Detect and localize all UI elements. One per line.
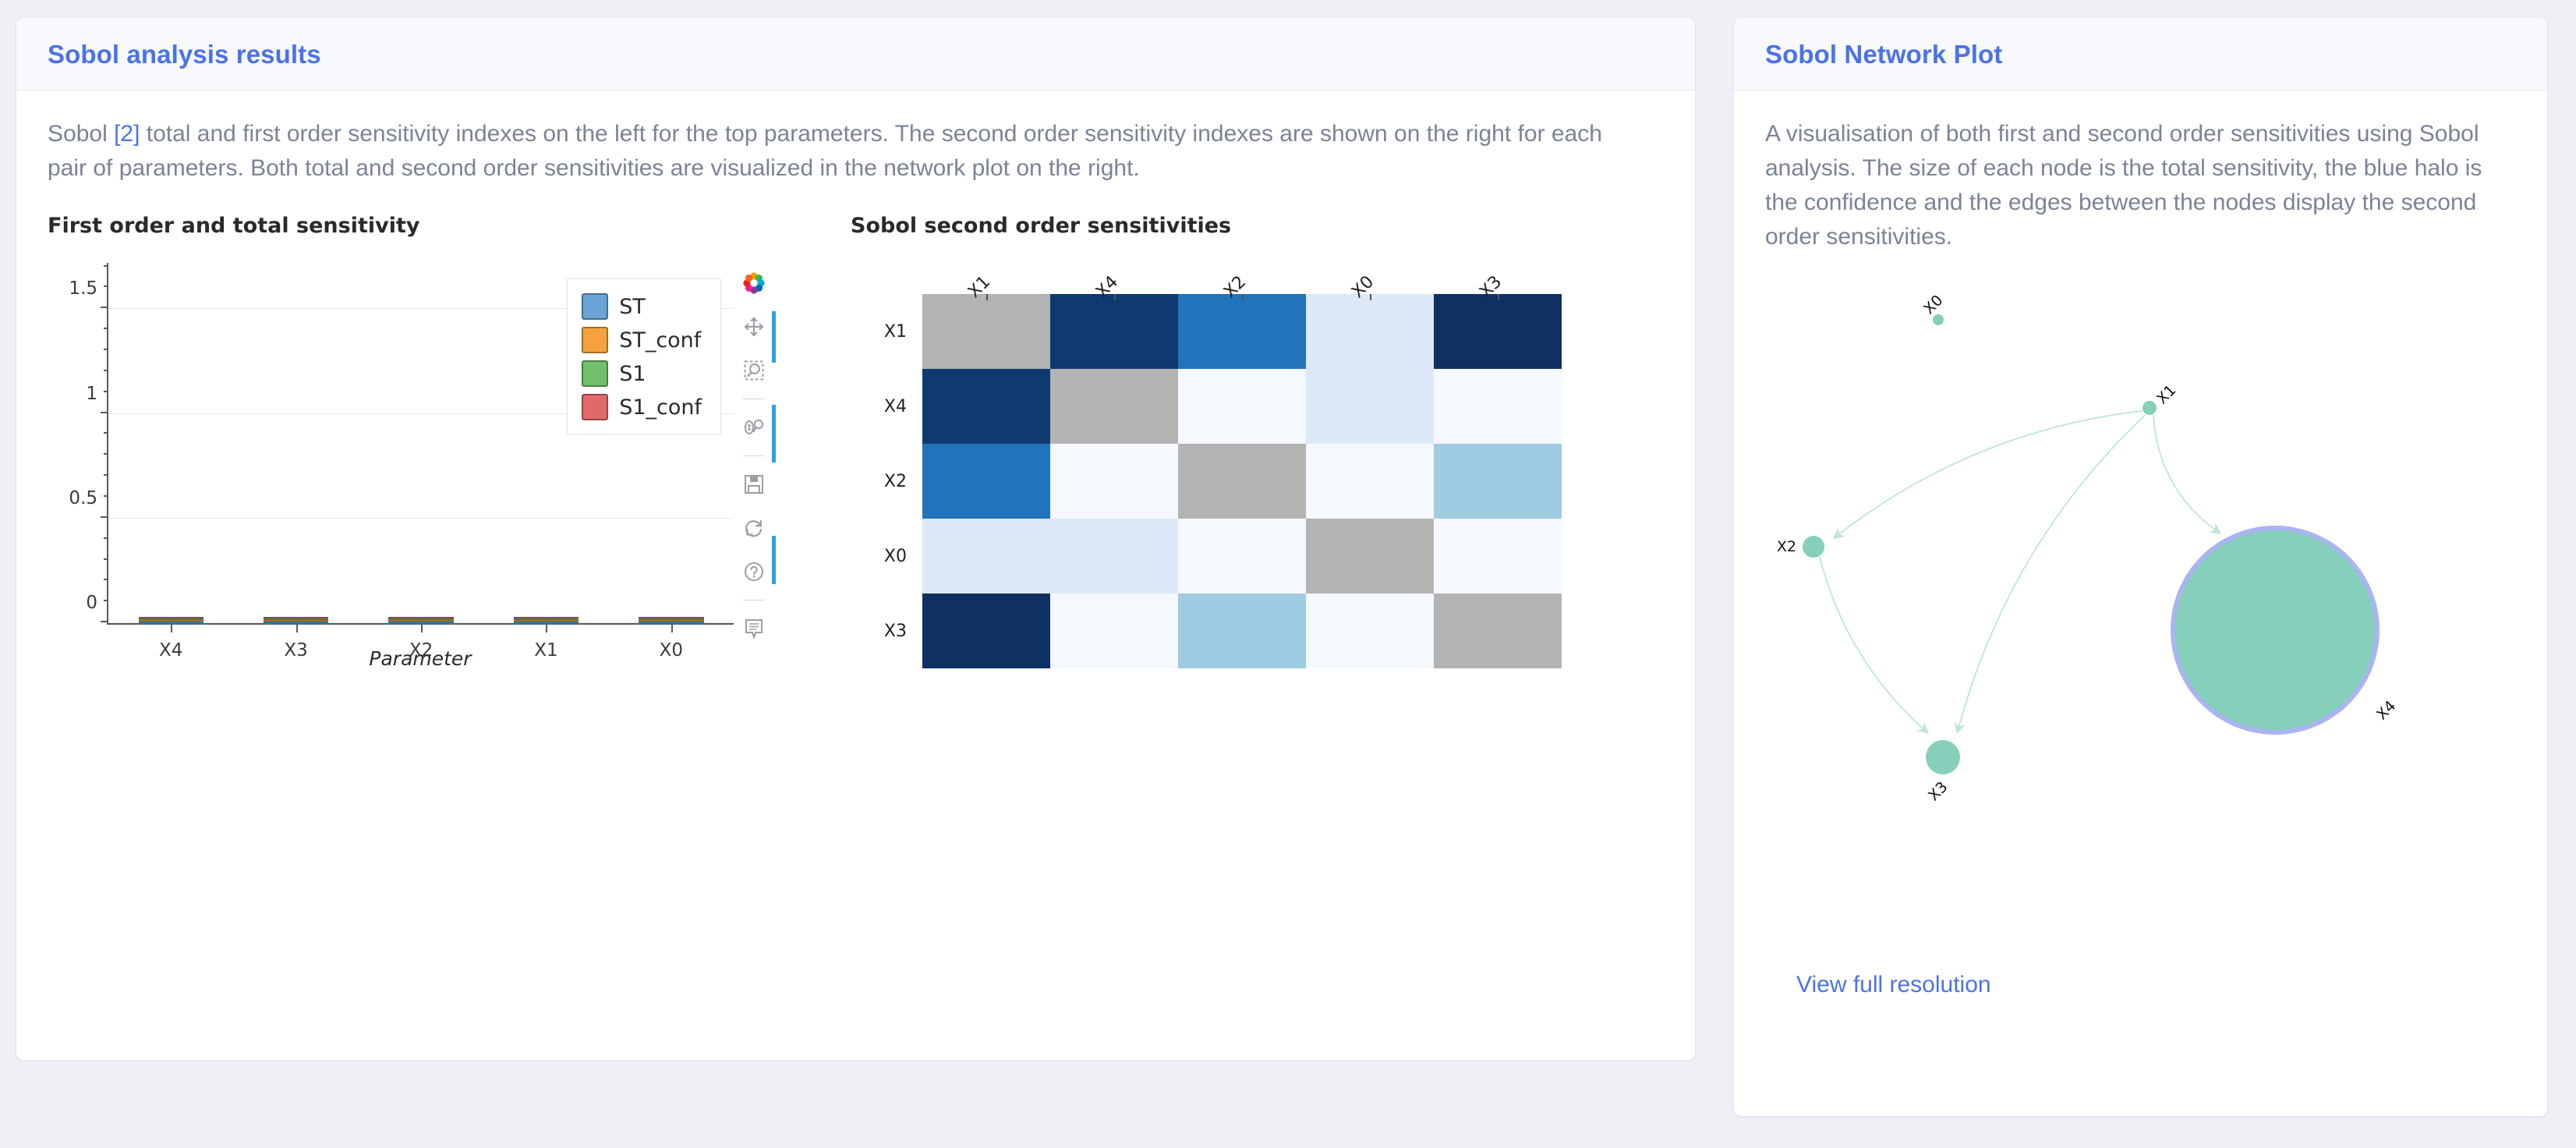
y-axis-tick bbox=[101, 621, 108, 622]
heatmap-cell[interactable] bbox=[1178, 369, 1306, 444]
heatmap-row-labels: X1X4X2X0X3 bbox=[851, 294, 922, 668]
heatmap-cell[interactable] bbox=[1050, 369, 1178, 444]
bar-column[interactable]: X4 bbox=[108, 617, 233, 623]
heatmap-column-labels: X1X4X2X0X3 bbox=[922, 250, 1562, 294]
reset-icon[interactable] bbox=[738, 512, 770, 544]
heatmap-grid[interactable] bbox=[922, 294, 1562, 668]
heatmap-cell[interactable] bbox=[1306, 369, 1434, 444]
heatmap-cell[interactable] bbox=[922, 593, 1050, 668]
page-root: Sobol analysis results Sobol [2] total a… bbox=[0, 0, 2576, 1117]
toolbar-divider bbox=[743, 399, 765, 399]
heatmap-row-label: X4 bbox=[851, 369, 922, 444]
network-node-label: X0 bbox=[1920, 292, 1946, 317]
legend-label: ST bbox=[619, 295, 646, 319]
sobol-network-plot-card: Sobol Network Plot A visualisation of bo… bbox=[1733, 17, 2548, 1117]
network-node-circle[interactable] bbox=[2143, 401, 2157, 415]
heatmap-column-label: X0 bbox=[1306, 250, 1434, 294]
heatmap-cell[interactable] bbox=[1178, 294, 1306, 369]
network-nodes[interactable]: X0X1X2X3X4 bbox=[1777, 292, 2399, 804]
legend-label: S1 bbox=[619, 362, 646, 386]
y-axis-tick bbox=[101, 306, 108, 308]
x-axis-tick bbox=[671, 623, 673, 632]
bar-plot-area[interactable]: 00.511.5X4X3X2X1X0 Parameter STST_confS1… bbox=[48, 250, 765, 687]
network-edges bbox=[1820, 411, 2220, 734]
heatmap-cell[interactable] bbox=[1434, 444, 1562, 519]
heatmap-cell[interactable] bbox=[1306, 294, 1434, 369]
legend-swatch bbox=[582, 394, 608, 420]
network-edge bbox=[1957, 415, 2146, 733]
page-title: Sobol analysis results bbox=[48, 40, 1664, 69]
heatmap-title: Sobol second order sensitivities bbox=[851, 214, 1638, 238]
network-node-label: X3 bbox=[1925, 778, 1951, 804]
heatmap-cell[interactable] bbox=[1306, 444, 1434, 519]
network-node-circle[interactable] bbox=[1926, 740, 1960, 774]
legend-item-st_conf[interactable]: ST_conf bbox=[582, 327, 702, 353]
bar-stack[interactable] bbox=[139, 617, 203, 623]
network-node-circle[interactable] bbox=[1803, 536, 1824, 558]
left-card-header: Sobol analysis results bbox=[16, 18, 1695, 90]
y-axis-tick-label: 1 bbox=[86, 384, 97, 404]
first-order-total-sensitivity-chart: First order and total sensitivity 00.511… bbox=[48, 214, 827, 687]
heatmap-cell[interactable] bbox=[1306, 593, 1434, 668]
network-plot-area[interactable]: X0X1X2X3X4 bbox=[1765, 271, 2516, 958]
heatmap-column-tick bbox=[986, 294, 988, 300]
y-axis-tick bbox=[101, 516, 108, 518]
heatmap-column-tick bbox=[1114, 294, 1116, 300]
heatmap-cell[interactable] bbox=[1178, 444, 1306, 519]
network-edge bbox=[1820, 557, 1928, 734]
toolbar-divider bbox=[743, 600, 765, 601]
heatmap-cell[interactable] bbox=[1178, 519, 1306, 593]
y-axis-tick-label: 0.5 bbox=[69, 488, 97, 508]
heatmap-cell[interactable] bbox=[1050, 593, 1178, 668]
network-node-x4[interactable]: X4 bbox=[2171, 526, 2399, 735]
bar-column[interactable]: X2 bbox=[359, 617, 483, 623]
legend-label: S1_conf bbox=[619, 395, 702, 420]
heatmap-body: X1X4X2X0X3 bbox=[851, 294, 1638, 668]
heatmap-cell[interactable] bbox=[1434, 519, 1562, 593]
legend-label: ST_conf bbox=[619, 328, 701, 353]
help-icon[interactable] bbox=[738, 556, 770, 587]
bar-stack[interactable] bbox=[264, 617, 328, 623]
network-description: A visualisation of both first and second… bbox=[1765, 117, 2482, 254]
pan-icon[interactable] bbox=[738, 311, 770, 342]
network-edge bbox=[1834, 411, 2143, 538]
heatmap-row-label: X0 bbox=[851, 519, 922, 593]
bar-stack[interactable] bbox=[514, 617, 579, 623]
second-order-sensitivities-heatmap: Sobol second order sensitivities X1X4X2X… bbox=[851, 214, 1638, 687]
reference-link[interactable]: [2] bbox=[114, 121, 140, 147]
x-axis-tick bbox=[421, 623, 423, 632]
x-axis-tick bbox=[296, 623, 298, 632]
network-node-circle[interactable] bbox=[1933, 314, 1944, 325]
legend-swatch bbox=[582, 293, 608, 320]
heatmap-cell[interactable] bbox=[1050, 444, 1178, 519]
x-axis-title: Parameter bbox=[107, 647, 734, 670]
network-node-circle[interactable] bbox=[2175, 530, 2375, 730]
network-node-x1[interactable]: X1 bbox=[2143, 382, 2179, 416]
heatmap-cell[interactable] bbox=[1434, 294, 1562, 369]
right-card-body: A visualisation of both first and second… bbox=[1734, 90, 2547, 998]
bar-column[interactable]: X0 bbox=[609, 617, 734, 623]
network-svg[interactable]: X0X1X2X3X4 bbox=[1765, 271, 2514, 958]
heatmap-cell[interactable] bbox=[922, 294, 1050, 369]
heatmap-cell[interactable] bbox=[1050, 519, 1178, 593]
left-description: Sobol [2] total and first order sensitiv… bbox=[48, 117, 1630, 186]
legend-swatch bbox=[582, 327, 608, 353]
bokeh-logo-icon[interactable] bbox=[738, 268, 770, 299]
wheel-zoom-icon[interactable] bbox=[738, 412, 770, 443]
heatmap-cell[interactable] bbox=[1434, 369, 1562, 444]
toolbar-active-rail bbox=[772, 311, 776, 569]
toolbar-divider bbox=[743, 455, 765, 456]
network-node-label: X2 bbox=[1777, 538, 1796, 555]
heatmap-cell[interactable] bbox=[1306, 519, 1434, 593]
bokeh-toolbar[interactable] bbox=[735, 268, 773, 644]
heatmap-column-label: X2 bbox=[1178, 250, 1306, 294]
heatmap-row-label: X2 bbox=[851, 444, 922, 519]
x-axis-tick bbox=[171, 623, 172, 632]
heatmap-column-tick bbox=[1242, 294, 1244, 300]
heatmap-cell[interactable] bbox=[1178, 593, 1306, 668]
bar-column[interactable]: X3 bbox=[233, 617, 358, 623]
bar-chart-legend[interactable]: STST_confS1S1_conf bbox=[567, 278, 721, 435]
heatmap-row-label: X3 bbox=[851, 593, 922, 668]
network-edge bbox=[2153, 415, 2220, 534]
network-node-label: X4 bbox=[2373, 698, 2399, 724]
heatmap-cell[interactable] bbox=[1434, 593, 1562, 668]
plots-row: First order and total sensitivity 00.511… bbox=[48, 214, 1664, 687]
heatmap-cell[interactable] bbox=[1050, 294, 1178, 369]
network-node-x2[interactable]: X2 bbox=[1777, 536, 1824, 558]
heatmap-column-label: X4 bbox=[1050, 250, 1178, 294]
left-card-body: Sobol [2] total and first order sensitiv… bbox=[16, 90, 1695, 687]
bar-stack[interactable] bbox=[388, 617, 453, 623]
legend-item-st[interactable]: ST bbox=[582, 293, 702, 320]
heatmap-column-tick bbox=[1370, 294, 1371, 300]
sobol-analysis-card: Sobol analysis results Sobol [2] total a… bbox=[16, 17, 1696, 1061]
network-node-x3[interactable]: X3 bbox=[1925, 740, 1960, 804]
y-axis-tick bbox=[101, 412, 108, 413]
heatmap-cell[interactable] bbox=[922, 369, 1050, 444]
bar-column[interactable]: X1 bbox=[483, 617, 608, 623]
right-card-header: Sobol Network Plot bbox=[1734, 18, 2547, 90]
network-node-x0[interactable]: X0 bbox=[1920, 292, 1946, 325]
desc-post: total and first order sensitivity indexe… bbox=[48, 121, 1602, 181]
hover-icon[interactable] bbox=[738, 613, 770, 644]
y-axis-tick-label: 1.5 bbox=[69, 278, 97, 299]
y-axis-tick-label: 0 bbox=[86, 593, 97, 613]
heatmap-cell[interactable] bbox=[922, 444, 1050, 519]
heatmap-cell[interactable] bbox=[922, 519, 1050, 593]
heatmap-row-label: X1 bbox=[851, 294, 922, 369]
heatmap-column-label: X1 bbox=[922, 250, 1050, 294]
bar-stack[interactable] bbox=[639, 617, 703, 623]
desc-pre: Sobol bbox=[48, 121, 114, 147]
network-plot-title: Sobol Network Plot bbox=[1765, 40, 2516, 69]
network-node-label: X1 bbox=[2153, 382, 2179, 408]
x-axis-tick bbox=[546, 623, 547, 632]
save-icon[interactable] bbox=[738, 469, 770, 500]
heatmap-column-label: X3 bbox=[1434, 250, 1562, 294]
bar-chart-title: First order and total sensitivity bbox=[48, 214, 827, 238]
legend-item-s1[interactable]: S1 bbox=[582, 360, 702, 387]
box-zoom-icon[interactable] bbox=[738, 355, 770, 386]
legend-item-s1_conf[interactable]: S1_conf bbox=[582, 394, 702, 420]
heatmap-column-tick bbox=[1498, 294, 1499, 300]
view-full-resolution-link[interactable]: View full resolution bbox=[1796, 972, 2516, 998]
legend-swatch bbox=[582, 360, 608, 387]
